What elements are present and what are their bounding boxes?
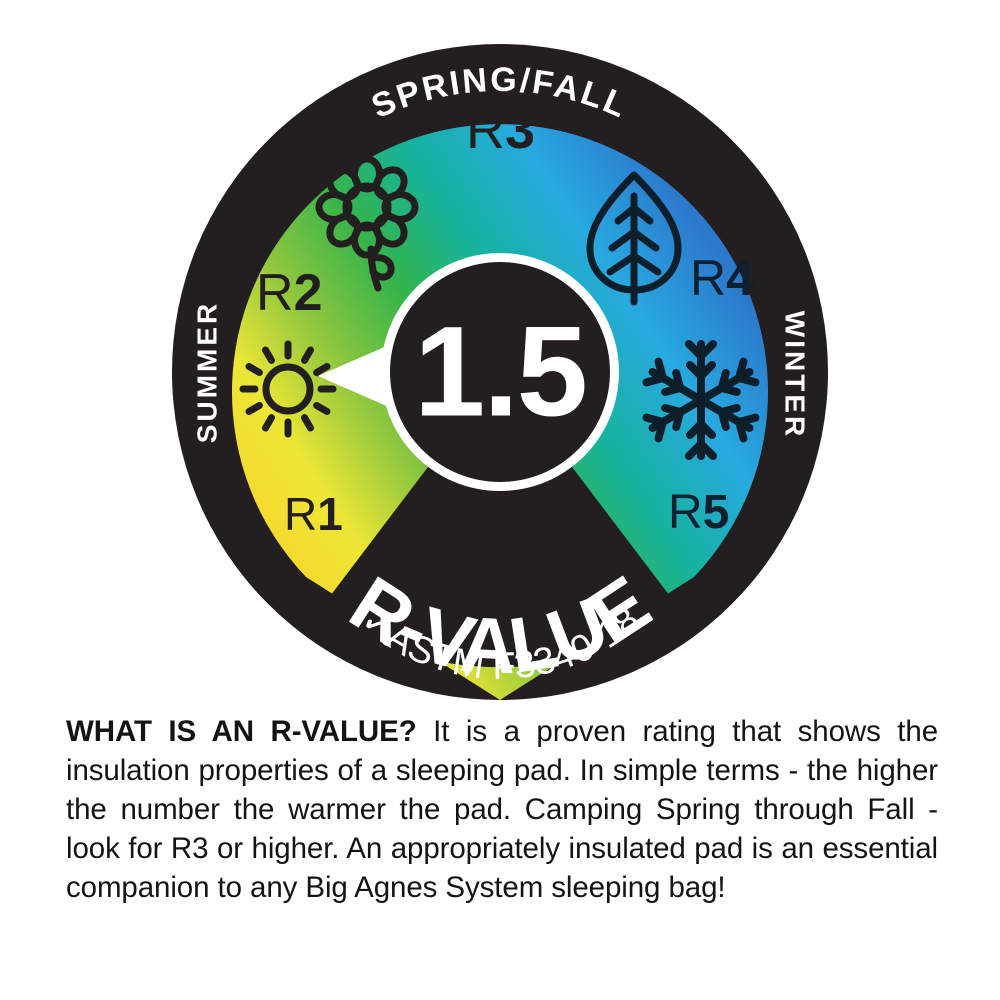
r4-value: 4 (726, 250, 754, 306)
segment-label-r1: R1 (284, 488, 343, 540)
svg-text:R1: R1 (284, 488, 343, 540)
r5-value: 5 (703, 486, 730, 539)
r-value-infographic: 1.5 SPRING/FALL SUMMER WINTER R-VALUE ✓A… (0, 0, 1000, 1000)
segment-label-r5: R5 (668, 486, 729, 539)
r3-prefix: R (466, 100, 505, 160)
gauge-value: 1.5 (414, 301, 586, 444)
segment-label-r4: R4 (690, 250, 754, 306)
gauge-graphic: 1.5 SPRING/FALL SUMMER WINTER R-VALUE ✓A… (0, 0, 1000, 720)
r1-value: 1 (317, 488, 343, 540)
r1-prefix: R (284, 488, 317, 540)
svg-text:SUMMER: SUMMER (192, 301, 223, 443)
svg-text:R5: R5 (668, 486, 729, 539)
r-value-gauge: 1.5 SPRING/FALL SUMMER WINTER R-VALUE ✓A… (0, 0, 1000, 720)
season-label-winter: WINTER (780, 311, 811, 439)
svg-text:R2: R2 (256, 264, 322, 322)
r3-value: 3 (505, 100, 535, 160)
svg-text:R3: R3 (466, 100, 535, 160)
description-lead: WHAT IS AN R-VALUE? (66, 715, 417, 748)
description-paragraph: WHAT IS AN R-VALUE? It is a proven ratin… (66, 712, 938, 907)
r2-value: 2 (294, 264, 323, 322)
segment-label-r3: R3 (466, 100, 535, 160)
gauge-center-dial: 1.5 (381, 253, 619, 491)
segment-label-r2: R2 (256, 264, 322, 322)
r5-prefix: R (668, 486, 703, 539)
r4-prefix: R (690, 250, 726, 306)
svg-text:R4: R4 (690, 250, 754, 306)
svg-text:WINTER: WINTER (780, 311, 811, 439)
season-label-summer: SUMMER (192, 301, 223, 443)
r2-prefix: R (256, 264, 294, 322)
